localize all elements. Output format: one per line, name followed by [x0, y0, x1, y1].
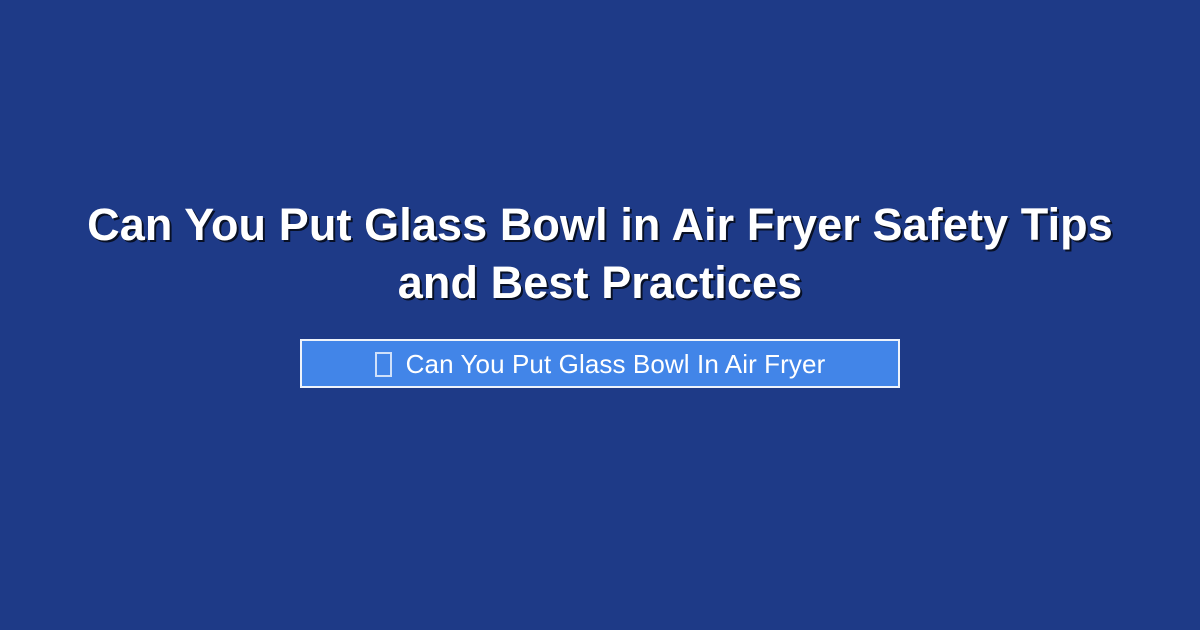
- page-title: Can You Put Glass Bowl in Air Fryer Safe…: [70, 196, 1130, 312]
- cta-button-label: Can You Put Glass Bowl In Air Fryer: [406, 351, 826, 377]
- missing-glyph-box-icon: [375, 352, 392, 377]
- cta-container: Can You Put Glass Bowl In Air Fryer: [0, 339, 1200, 388]
- social-preview-card: Can You Put Glass Bowl in Air Fryer Safe…: [0, 0, 1200, 630]
- title-block: Can You Put Glass Bowl in Air Fryer Safe…: [70, 196, 1130, 312]
- cta-button[interactable]: Can You Put Glass Bowl In Air Fryer: [300, 339, 900, 388]
